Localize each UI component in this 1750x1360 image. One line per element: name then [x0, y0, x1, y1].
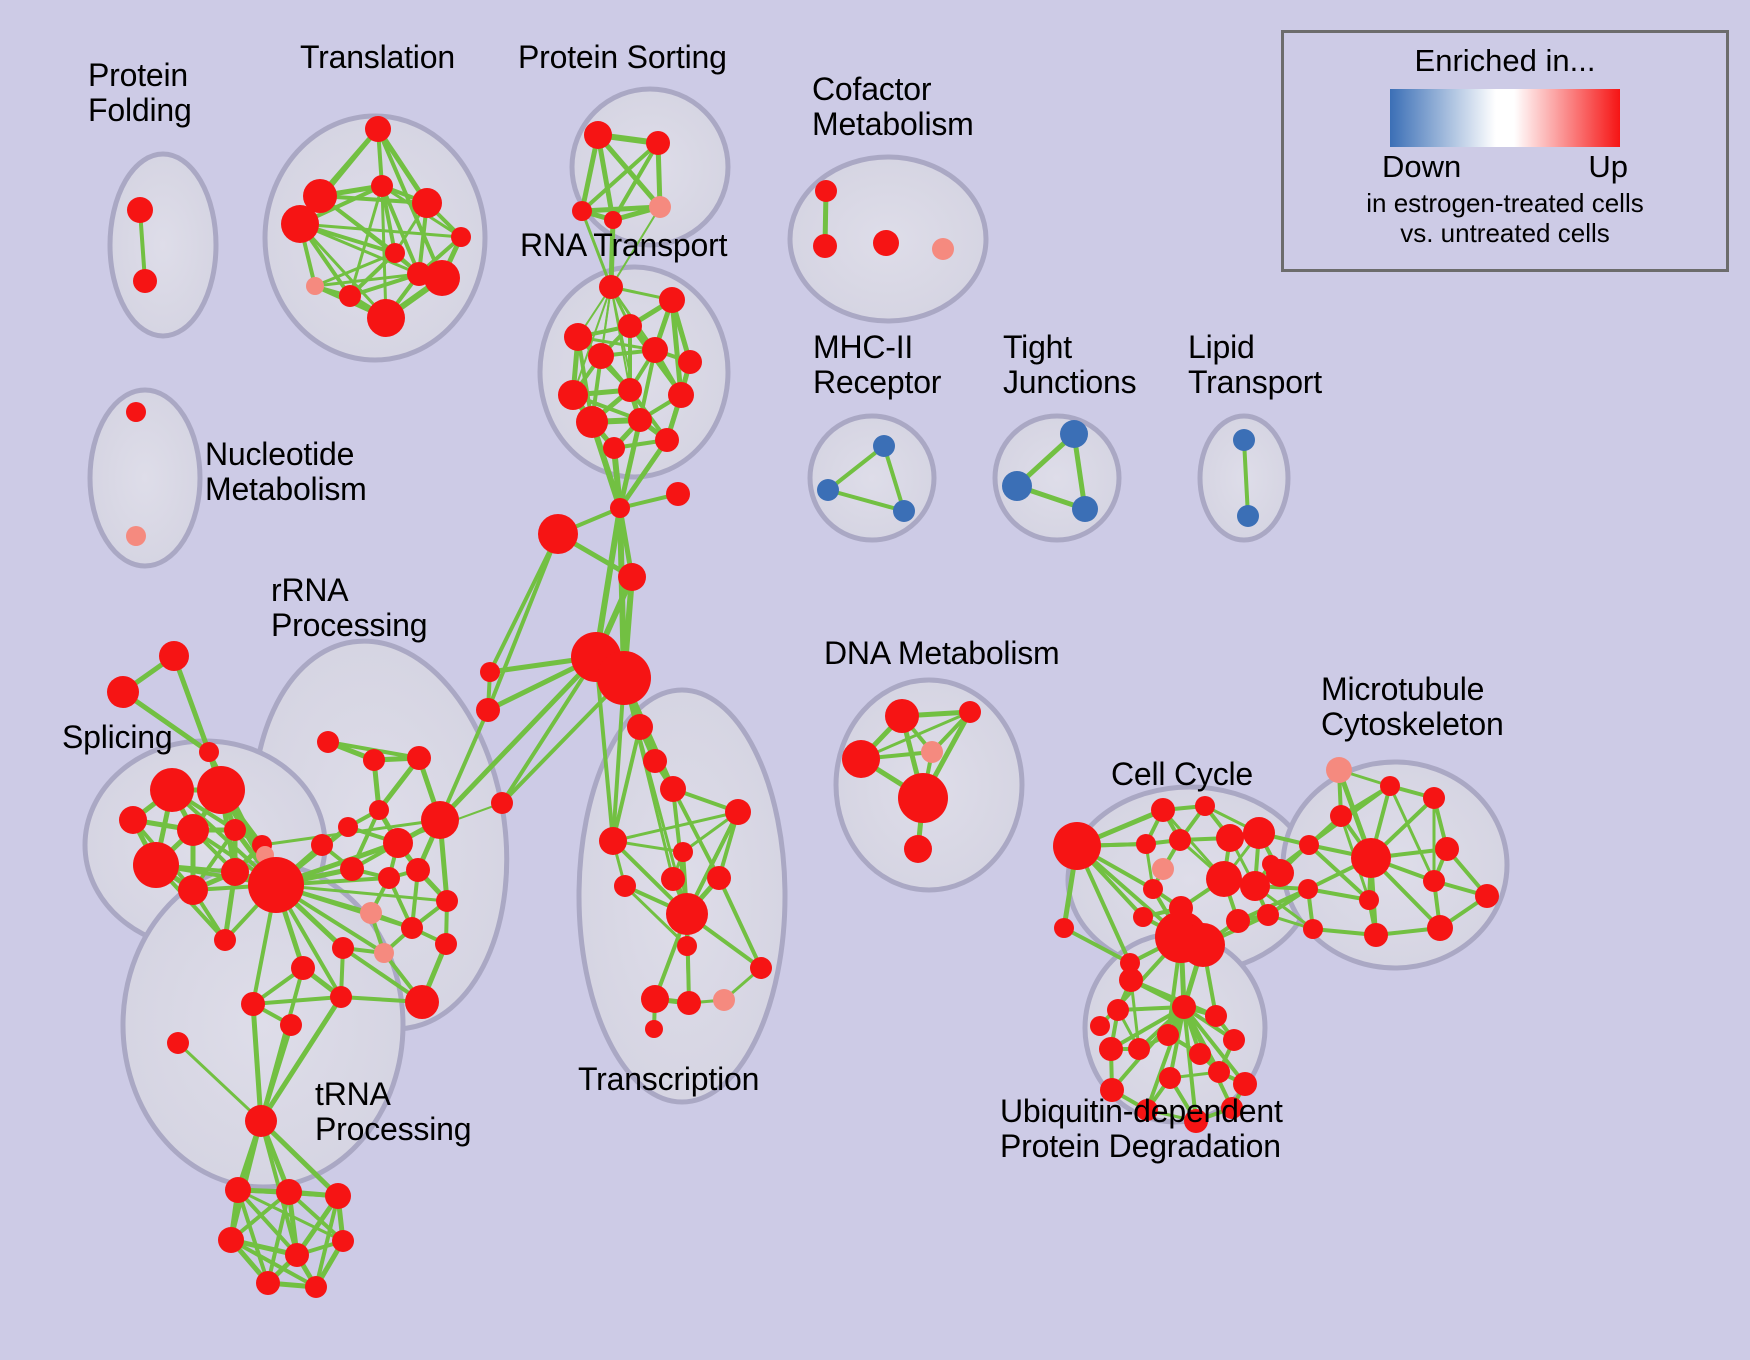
network-node[interactable]	[599, 275, 623, 299]
network-node[interactable]	[224, 819, 246, 841]
cluster-label-cofactor-metabolism: Cofactor Metabolism	[812, 72, 974, 141]
network-node[interactable]	[643, 749, 667, 773]
network-node[interactable]	[1298, 879, 1318, 899]
network-node[interactable]	[597, 651, 651, 705]
network-edge	[488, 534, 558, 710]
cluster-label-rna-transport: RNA Transport	[520, 228, 727, 263]
network-node[interactable]	[245, 1105, 277, 1137]
network-node[interactable]	[817, 479, 839, 501]
network-node[interactable]	[921, 741, 943, 763]
network-node[interactable]	[1090, 1016, 1110, 1036]
network-node[interactable]	[677, 991, 701, 1015]
network-node[interactable]	[424, 260, 460, 296]
network-node[interactable]	[1099, 1037, 1123, 1061]
cluster-label-protein-folding: Protein Folding	[88, 58, 192, 127]
network-node[interactable]	[1002, 471, 1032, 501]
network-node[interactable]	[1351, 838, 1391, 878]
network-node[interactable]	[435, 933, 457, 955]
network-node[interactable]	[1172, 995, 1196, 1019]
network-node[interactable]	[959, 701, 981, 723]
network-node[interactable]	[1326, 757, 1352, 783]
network-node[interactable]	[1423, 787, 1445, 809]
network-node[interactable]	[1359, 890, 1379, 910]
network-node[interactable]	[1364, 923, 1388, 947]
network-node[interactable]	[813, 234, 837, 258]
cluster-hull-protein-folding	[110, 154, 216, 336]
network-node[interactable]	[588, 343, 614, 369]
network-node[interactable]	[369, 800, 389, 820]
network-node[interactable]	[360, 902, 382, 924]
network-node[interactable]	[1475, 884, 1499, 908]
network-node[interactable]	[177, 814, 209, 846]
legend-subtitle-line-1: in estrogen-treated cells	[1366, 189, 1643, 219]
network-node[interactable]	[815, 180, 837, 202]
network-node[interactable]	[367, 299, 405, 337]
cluster-label-translation: Translation	[300, 40, 455, 75]
network-node[interactable]	[1257, 904, 1279, 926]
network-node[interactable]	[1435, 837, 1459, 861]
legend-low-label: Down	[1382, 149, 1461, 185]
network-node[interactable]	[178, 875, 208, 905]
network-node[interactable]	[842, 740, 880, 778]
network-node[interactable]	[904, 835, 932, 863]
network-node[interactable]	[1072, 496, 1098, 522]
network-node[interactable]	[401, 917, 423, 939]
network-node[interactable]	[646, 131, 670, 155]
network-node[interactable]	[383, 828, 413, 858]
network-node[interactable]	[1226, 909, 1250, 933]
network-node[interactable]	[374, 943, 394, 963]
network-node[interactable]	[332, 937, 354, 959]
network-node[interactable]	[1427, 915, 1453, 941]
network-node[interactable]	[1330, 805, 1352, 827]
network-node[interactable]	[584, 121, 612, 149]
network-node[interactable]	[1240, 871, 1270, 901]
enrichment-network-figure: Protein FoldingTranslationProtein Sortin…	[0, 0, 1750, 1360]
network-node[interactable]	[150, 768, 194, 812]
network-node[interactable]	[1243, 817, 1275, 849]
network-node[interactable]	[451, 227, 471, 247]
network-node[interactable]	[311, 834, 333, 856]
network-node[interactable]	[340, 857, 364, 881]
network-node[interactable]	[642, 337, 668, 363]
network-node[interactable]	[1133, 907, 1153, 927]
cluster-label-protein-sorting: Protein Sorting	[518, 40, 727, 75]
network-node[interactable]	[1143, 879, 1163, 899]
cluster-label-trna-processing: tRNA Processing	[315, 1077, 471, 1146]
network-node[interactable]	[199, 742, 219, 762]
network-node[interactable]	[1107, 999, 1129, 1021]
network-node[interactable]	[666, 482, 690, 506]
network-node[interactable]	[1053, 822, 1101, 870]
network-node[interactable]	[119, 806, 147, 834]
network-node[interactable]	[197, 766, 245, 814]
network-node[interactable]	[476, 698, 500, 722]
network-node[interactable]	[1054, 918, 1074, 938]
network-node[interactable]	[1136, 834, 1156, 854]
network-node[interactable]	[707, 866, 731, 890]
network-node[interactable]	[218, 1227, 244, 1253]
network-node[interactable]	[167, 1032, 189, 1054]
network-node[interactable]	[241, 992, 265, 1016]
network-node[interactable]	[1159, 1067, 1181, 1089]
network-node[interactable]	[339, 285, 361, 307]
network-node[interactable]	[256, 1271, 280, 1295]
network-node[interactable]	[885, 699, 919, 733]
network-node[interactable]	[480, 662, 500, 682]
network-node[interactable]	[291, 956, 315, 980]
network-node[interactable]	[281, 205, 319, 243]
network-node[interactable]	[572, 201, 592, 221]
network-node[interactable]	[1303, 919, 1323, 939]
network-node[interactable]	[713, 989, 735, 1011]
cluster-label-dna-metabolism: DNA Metabolism	[824, 636, 1060, 671]
network-node[interactable]	[317, 731, 339, 753]
network-node[interactable]	[661, 867, 685, 891]
network-node[interactable]	[214, 929, 236, 951]
network-node[interactable]	[1237, 505, 1259, 527]
cluster-label-nucleotide-metabolism: Nucleotide Metabolism	[205, 437, 367, 506]
network-node[interactable]	[385, 243, 405, 263]
cluster-label-ubiquitin-protein-degradation: Ubiquitin-dependent Protein Degradation	[1000, 1094, 1283, 1163]
network-node[interactable]	[678, 350, 702, 374]
network-node[interactable]	[1189, 1043, 1211, 1065]
network-node[interactable]	[491, 792, 513, 814]
network-node[interactable]	[406, 858, 430, 882]
network-node[interactable]	[660, 776, 686, 802]
cluster-hull-mhc-ii-receptor	[810, 416, 934, 540]
network-node[interactable]	[405, 985, 439, 1019]
cluster-label-cell-cycle: Cell Cycle	[1111, 757, 1253, 792]
network-node[interactable]	[538, 514, 578, 554]
network-node[interactable]	[893, 500, 915, 522]
network-node[interactable]	[750, 957, 772, 979]
cluster-label-transcription: Transcription	[578, 1062, 759, 1097]
network-node[interactable]	[276, 1179, 302, 1205]
network-node[interactable]	[1152, 858, 1174, 880]
network-node[interactable]	[436, 890, 458, 912]
legend-high-label: Up	[1588, 149, 1628, 185]
network-node[interactable]	[627, 714, 653, 740]
network-node[interactable]	[666, 893, 708, 935]
network-node[interactable]	[873, 230, 899, 256]
network-node[interactable]	[1119, 968, 1143, 992]
network-node[interactable]	[628, 408, 652, 432]
network-node[interactable]	[133, 842, 179, 888]
network-node[interactable]	[614, 875, 636, 897]
network-node[interactable]	[1206, 861, 1242, 897]
network-node[interactable]	[659, 287, 685, 313]
network-node[interactable]	[365, 116, 391, 142]
network-node[interactable]	[1423, 870, 1445, 892]
legend-subtitle-line-2: vs. untreated cells	[1366, 219, 1643, 249]
network-node[interactable]	[221, 858, 249, 886]
network-node[interactable]	[1266, 859, 1294, 887]
network-node[interactable]	[1223, 1029, 1245, 1051]
network-node[interactable]	[932, 238, 954, 260]
network-node[interactable]	[1151, 798, 1175, 822]
network-node[interactable]	[1205, 1005, 1227, 1027]
network-node[interactable]	[599, 827, 627, 855]
network-node[interactable]	[649, 196, 671, 218]
network-node[interactable]	[1208, 1061, 1230, 1083]
network-node[interactable]	[285, 1243, 309, 1267]
network-node[interactable]	[1169, 829, 1191, 851]
network-node[interactable]	[330, 986, 352, 1008]
network-node[interactable]	[1233, 429, 1255, 451]
network-node[interactable]	[126, 526, 146, 546]
cluster-label-microtubule-cytoskeleton: Microtubule Cytoskeleton	[1321, 672, 1504, 741]
cluster-label-rrna-processing: rRNA Processing	[271, 573, 427, 642]
network-node[interactable]	[618, 378, 642, 402]
network-node[interactable]	[280, 1014, 302, 1036]
cluster-label-mhc-ii-receptor: MHC-II Receptor	[813, 330, 941, 399]
cluster-label-lipid-transport: Lipid Transport	[1188, 330, 1322, 399]
network-node[interactable]	[673, 842, 693, 862]
network-node[interactable]	[898, 773, 948, 823]
network-node[interactable]	[306, 277, 324, 295]
network-node[interactable]	[332, 1230, 354, 1252]
network-node[interactable]	[127, 197, 153, 223]
legend-subtitle: in estrogen-treated cells vs. untreated …	[1366, 189, 1643, 249]
network-node[interactable]	[668, 382, 694, 408]
network-node[interactable]	[1380, 776, 1400, 796]
legend-title: Enriched in...	[1415, 43, 1596, 79]
legend-color-bar	[1390, 89, 1620, 147]
network-node[interactable]	[610, 498, 630, 518]
network-node[interactable]	[305, 1276, 327, 1298]
network-node[interactable]	[1299, 835, 1319, 855]
cluster-label-splicing: Splicing	[62, 720, 172, 755]
network-node[interactable]	[558, 380, 588, 410]
network-node[interactable]	[655, 428, 679, 452]
network-node[interactable]	[407, 746, 431, 770]
network-node[interactable]	[1216, 824, 1244, 852]
network-node[interactable]	[248, 857, 304, 913]
cluster-label-tight-junctions: Tight Junctions	[1003, 330, 1136, 399]
network-node[interactable]	[107, 676, 139, 708]
network-node[interactable]	[133, 269, 157, 293]
network-node[interactable]	[677, 936, 697, 956]
network-node[interactable]	[371, 175, 393, 197]
network-node[interactable]	[1060, 420, 1088, 448]
network-node[interactable]	[1128, 1038, 1150, 1060]
network-node[interactable]	[225, 1177, 251, 1203]
network-node[interactable]	[126, 402, 146, 422]
network-node[interactable]	[603, 437, 625, 459]
network-node[interactable]	[325, 1183, 351, 1209]
legend-endpoints: Down Up	[1382, 149, 1628, 185]
network-node[interactable]	[873, 435, 895, 457]
legend-panel: Enriched in... Down Up in estrogen-treat…	[1281, 30, 1729, 272]
network-node[interactable]	[564, 323, 592, 351]
network-node[interactable]	[618, 314, 642, 338]
network-node[interactable]	[378, 867, 400, 889]
network-node[interactable]	[725, 799, 751, 825]
network-node[interactable]	[645, 1020, 663, 1038]
network-node[interactable]	[1157, 1024, 1179, 1046]
network-node[interactable]	[641, 985, 669, 1013]
network-node[interactable]	[159, 641, 189, 671]
network-node[interactable]	[618, 563, 646, 591]
network-node[interactable]	[412, 188, 442, 218]
network-node[interactable]	[338, 817, 358, 837]
network-node[interactable]	[1181, 923, 1225, 967]
network-node[interactable]	[363, 749, 385, 771]
network-node[interactable]	[421, 801, 459, 839]
network-node[interactable]	[576, 406, 608, 438]
network-node[interactable]	[1195, 796, 1215, 816]
